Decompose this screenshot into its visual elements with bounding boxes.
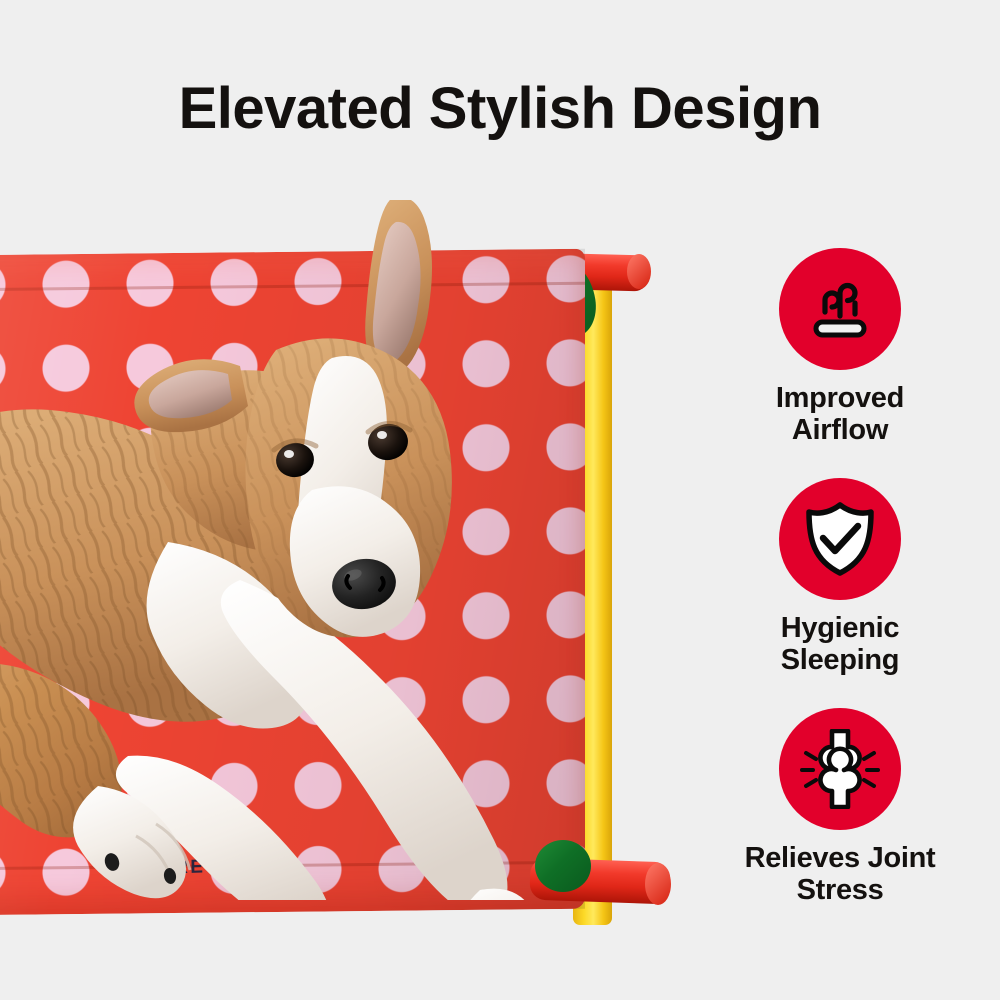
product-photo: VETRESKA xyxy=(0,200,700,960)
feature-badge-hygienic xyxy=(779,478,901,600)
bed-frame-tube-top-cap xyxy=(627,254,651,289)
feature-label-line2: Sleeping xyxy=(690,644,990,676)
feature-badge-joint xyxy=(779,708,901,830)
feature-item-hygienic: Hygienic Sleeping xyxy=(690,478,990,676)
airflow-icon xyxy=(803,272,877,346)
product-feature-banner: Elevated Stylish Design VETRESKA xyxy=(0,0,1000,1000)
feature-label-line1: Relieves Joint xyxy=(690,842,990,874)
dog-eye-right-highlight xyxy=(377,431,387,439)
feature-label-line1: Improved xyxy=(690,382,990,414)
feature-list: Improved Airflow Hygienic Sleeping xyxy=(690,248,990,938)
feature-label-line1: Hygienic xyxy=(690,612,990,644)
feature-label-line2: Stress xyxy=(690,874,990,906)
shield-check-icon xyxy=(802,500,878,578)
bone-joint-icon xyxy=(800,729,880,809)
feature-badge-airflow xyxy=(779,248,901,370)
bed-frame-tube-bottom-cap xyxy=(645,863,671,905)
feature-item-airflow: Improved Airflow xyxy=(690,248,990,446)
page-title: Elevated Stylish Design xyxy=(0,78,1000,140)
dog-eye-left-highlight xyxy=(284,450,294,458)
feature-item-joint: Relieves Joint Stress xyxy=(690,708,990,906)
dog-photo xyxy=(0,200,560,900)
feature-label-line2: Airflow xyxy=(690,414,990,446)
